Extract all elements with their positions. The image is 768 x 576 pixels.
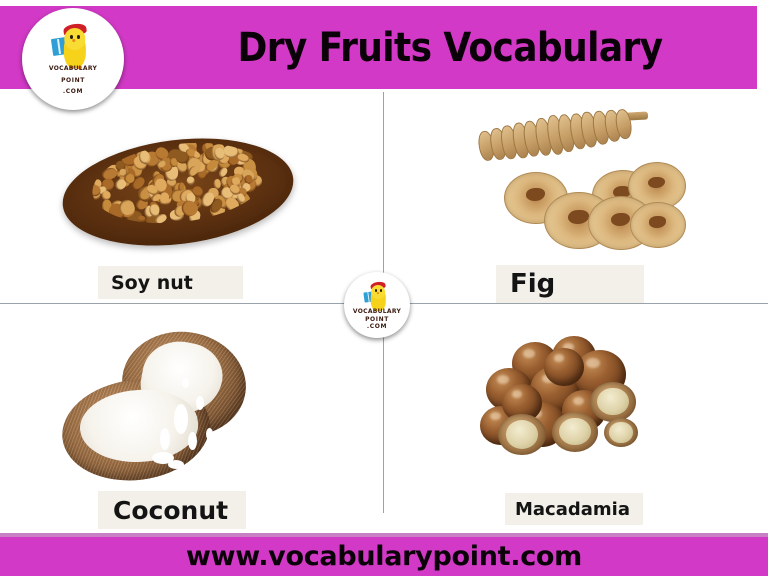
- macadamia-kernel-shape: [559, 418, 590, 446]
- coconut-milk-droplet-shape: [174, 404, 188, 434]
- chick-eye-right-icon: [77, 35, 80, 39]
- logo-inner-disc: VOCABULARY POINT .COM: [349, 277, 404, 332]
- macadamia-nut-shape: [544, 348, 584, 386]
- logo-text-line2: POINT: [349, 317, 404, 323]
- macadamia-image: [478, 336, 660, 484]
- macadamia-kernel-shape: [597, 388, 628, 416]
- logo-text-line1: VOCABULARY: [30, 66, 116, 72]
- coconut-milk-droplet-shape: [168, 460, 184, 469]
- macadamia-cracked-shell-shape: [498, 414, 546, 455]
- coconut-milk-droplet-shape: [206, 428, 213, 440]
- label-soynut: Soy nut: [98, 266, 243, 299]
- logo-text-line3: .COM: [349, 324, 404, 330]
- logo-text-line2: POINT: [30, 78, 116, 84]
- fig-skewer-shape: [471, 100, 638, 171]
- macadamia-kernel-shape: [506, 420, 539, 449]
- page-title: Dry Fruits Vocabulary: [150, 6, 750, 89]
- logo-text-line3: .COM: [30, 89, 116, 95]
- coconut-milk-droplet-shape: [188, 432, 197, 450]
- soynut-image: [62, 128, 294, 246]
- vocabulary-point-logo: VOCABULARY POINT .COM: [22, 8, 124, 110]
- macadamia-cracked-shell-shape: [604, 418, 638, 447]
- soynut-kernel-shape: [214, 179, 222, 189]
- macadamia-cracked-shell-shape: [552, 412, 598, 452]
- vocabulary-point-logo-watermark: VOCABULARY POINT .COM: [344, 272, 410, 338]
- fig-round-shape: [630, 202, 686, 248]
- chick-eye-right-icon: [380, 289, 382, 292]
- logo-inner-disc: VOCABULARY POINT .COM: [30, 16, 116, 102]
- coconut-image: [56, 332, 276, 482]
- coconut-milk-droplet-shape: [182, 378, 189, 388]
- dry-fruits-vocabulary-poster: Dry Fruits Vocabulary VOCABULARY POINT .…: [0, 0, 768, 576]
- label-fig: Fig: [496, 265, 644, 303]
- fig-image: [470, 110, 685, 255]
- soynut-kernel-shape: [101, 191, 110, 200]
- soynut-kernel-shape: [185, 176, 196, 187]
- coconut-milk-droplet-shape: [196, 396, 204, 410]
- footer-website: www.vocabularypoint.com: [186, 541, 582, 572]
- footer-band: www.vocabularypoint.com: [0, 537, 768, 576]
- coconut-milk-droplet-shape: [160, 428, 170, 450]
- macadamia-kernel-shape: [609, 422, 632, 442]
- label-macadamia: Macadamia: [505, 493, 643, 525]
- label-coconut: Coconut: [98, 491, 246, 529]
- logo-text-line1: VOCABULARY: [349, 309, 404, 315]
- macadamia-cracked-shell-shape: [590, 382, 636, 422]
